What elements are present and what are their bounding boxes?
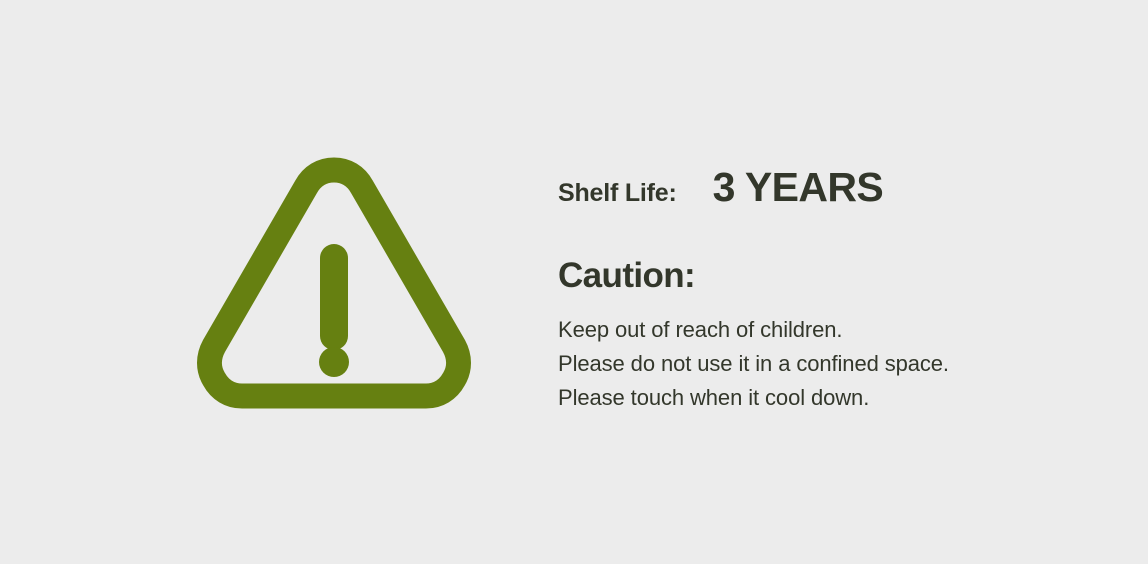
caution-line: Keep out of reach of children. bbox=[558, 313, 1098, 347]
exclamation-bar bbox=[320, 244, 348, 350]
text-column: Shelf Life: 3 YEARS Caution: Keep out of… bbox=[558, 164, 1098, 415]
shelf-life-value: 3 YEARS bbox=[713, 164, 884, 211]
caution-line: Please touch when it cool down. bbox=[558, 381, 1098, 415]
shelf-life-row: Shelf Life: 3 YEARS bbox=[558, 164, 1098, 220]
caution-heading: Caution: bbox=[558, 258, 1098, 295]
shelf-life-label: Shelf Life: bbox=[558, 179, 677, 208]
warning-triangle-icon bbox=[188, 146, 480, 418]
exclamation-dot bbox=[319, 347, 349, 377]
caution-line-list: Keep out of reach of children. Please do… bbox=[558, 313, 1098, 415]
product-caution-banner: Shelf Life: 3 YEARS Caution: Keep out of… bbox=[0, 0, 1148, 564]
caution-line: Please do not use it in a confined space… bbox=[558, 347, 1098, 381]
